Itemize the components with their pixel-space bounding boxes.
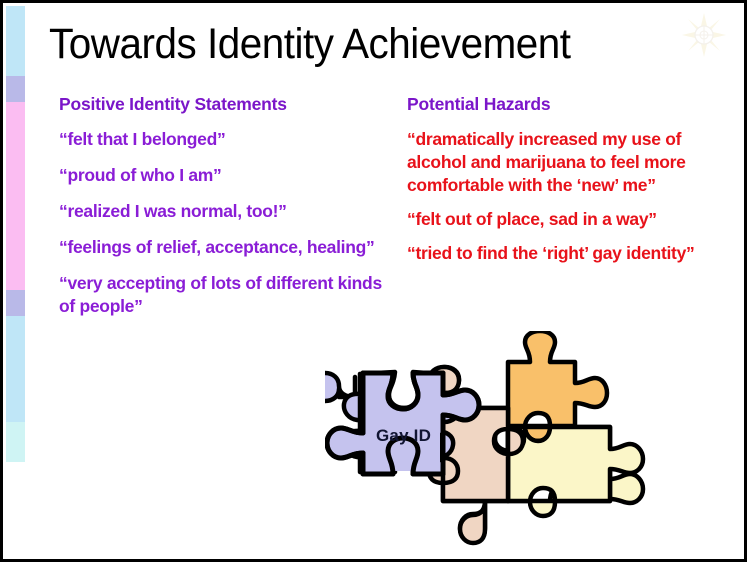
color-band-5 (6, 422, 25, 462)
color-band-1 (6, 76, 25, 102)
puzzle-illustration (325, 331, 745, 557)
list-item: “tried to find the ‘right’ gay identity” (407, 242, 707, 265)
list-item: “dramatically increased my use of alcoho… (407, 128, 707, 197)
slide-canvas: Towards Identity Achievement Positive Id… (0, 0, 747, 562)
color-band-2 (6, 102, 25, 290)
column-potential-hazards: Potential Hazards “dramatically increase… (407, 93, 707, 276)
list-item: “very accepting of lots of different kin… (59, 272, 389, 318)
orange-piece (508, 331, 607, 441)
list-item: “feelings of relief, acceptance, healing… (59, 236, 389, 259)
page-title: Towards Identity Achievement (49, 19, 669, 69)
list-item: “felt out of place, sad in a way” (407, 208, 707, 231)
decorative-color-strip (6, 6, 25, 562)
sun-icon (682, 13, 726, 57)
column-positive-identity-statements: Positive Identity Statements “felt that … (59, 93, 389, 331)
color-band-6 (6, 462, 25, 562)
color-band-3 (6, 290, 25, 316)
list-item: “proud of who I am” (59, 164, 389, 187)
color-band-4 (6, 316, 25, 422)
color-band-0 (6, 6, 25, 76)
list-item: “realized I was normal, too!” (59, 200, 389, 223)
list-item: “felt that I belonged” (59, 128, 389, 151)
column-heading-hazards: Potential Hazards (407, 93, 707, 115)
column-heading-positive: Positive Identity Statements (59, 93, 389, 115)
